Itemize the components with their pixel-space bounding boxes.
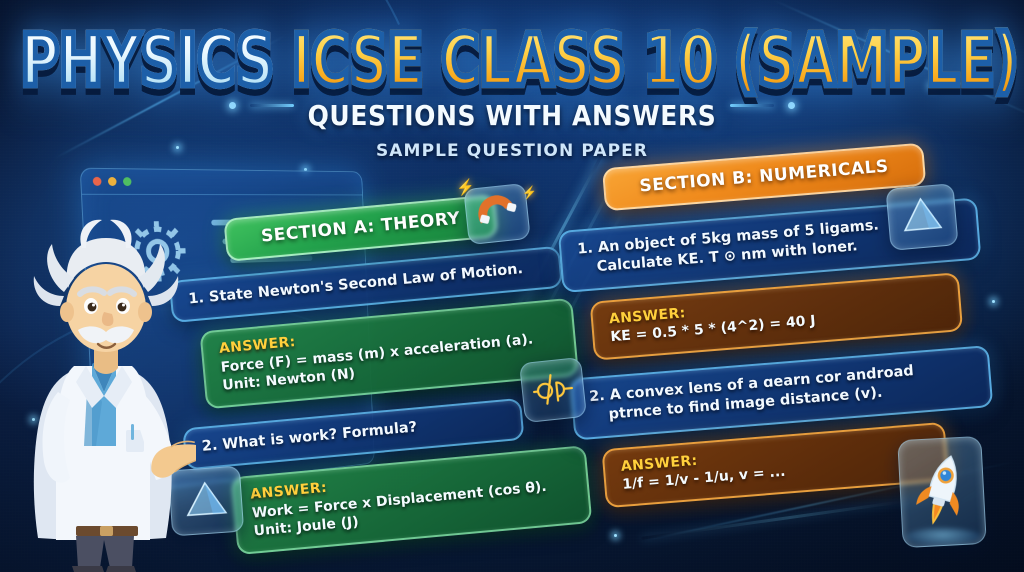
title-part-icse: ICSE CLASS 10 (SAMPLE) bbox=[292, 19, 1019, 102]
window-minimize-dot[interactable] bbox=[108, 177, 117, 186]
subtitle: QUESTIONS WITH ANSWERS bbox=[308, 99, 717, 131]
subtitle-dash-right bbox=[730, 104, 774, 107]
subtitle-secondary: SAMPLE QUESTION PAPER bbox=[0, 141, 1024, 161]
scientist-character bbox=[18, 196, 196, 572]
lightning-bolt-icon: ⚡ bbox=[521, 185, 537, 200]
question-text: 1. State Newton's Second Law of Motion. bbox=[188, 261, 524, 307]
rocket-icon-tile bbox=[897, 436, 987, 548]
subtitle-dot-left bbox=[229, 102, 236, 109]
formula-icon bbox=[529, 368, 577, 411]
magnet-icon bbox=[475, 192, 519, 237]
answer-card[interactable]: ANSWER: Work = Force x Displacement (cos… bbox=[231, 445, 593, 554]
question-text: 2. What is work? Formula? bbox=[201, 419, 418, 455]
subtitle-dash-left bbox=[250, 104, 294, 107]
poster-canvas: PHYSICS ICSE CLASS 10 (SAMPLE) QUESTIONS… bbox=[0, 0, 1024, 572]
window-close-dot[interactable] bbox=[93, 177, 102, 186]
subtitle-dot-right bbox=[788, 102, 795, 109]
formula-icon-tile bbox=[519, 357, 587, 423]
browser-titlebar bbox=[81, 169, 362, 196]
answer-card[interactable]: ANSWER: 1/f = 1/v - 1/u, v = ... bbox=[601, 421, 949, 507]
prism-icon bbox=[898, 193, 946, 242]
prism-icon-tile bbox=[885, 183, 958, 251]
window-maximize-dot[interactable] bbox=[123, 177, 132, 186]
title-part-physics: PHYSICS bbox=[20, 19, 273, 102]
page-title: PHYSICS ICSE CLASS 10 (SAMPLE) bbox=[20, 24, 1003, 97]
rocket-icon bbox=[907, 447, 977, 537]
magnet-icon-tile: ⚡ ⚡ bbox=[463, 183, 531, 245]
poster-header: PHYSICS ICSE CLASS 10 (SAMPLE) QUESTIONS… bbox=[0, 24, 1024, 161]
lightning-bolt-icon: ⚡ bbox=[455, 177, 475, 197]
